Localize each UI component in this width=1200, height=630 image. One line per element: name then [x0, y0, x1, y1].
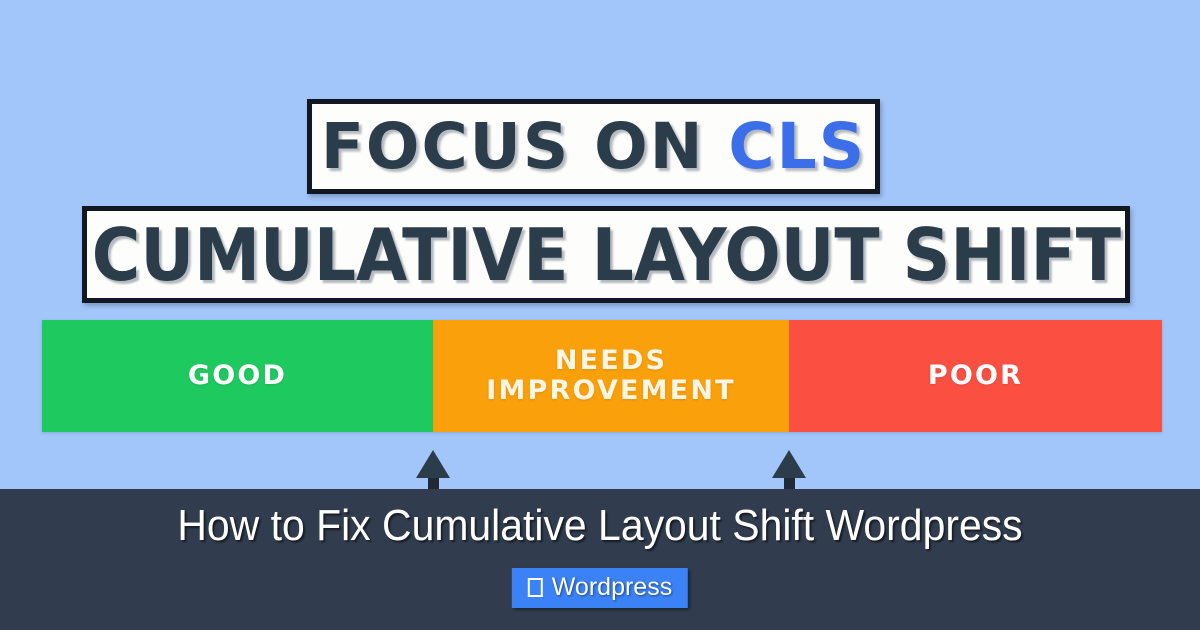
- bottom-overlay-bar: How to Fix Cumulative Layout Shift Wordp…: [0, 489, 1200, 630]
- page-title: How to Fix Cumulative Layout Shift Wordp…: [42, 501, 1158, 551]
- source-badge[interactable]: Wordpress: [512, 568, 688, 608]
- bar-segment-needs-line2: IMPROVEMENT: [486, 375, 736, 406]
- bar-segment-good-label: GOOD: [188, 361, 287, 391]
- headline-focus-prefix: FOCUS ON: [321, 110, 729, 183]
- arrow-up-icon: [416, 450, 450, 478]
- bar-segment-needs-line1: NEEDS: [555, 345, 667, 376]
- bar-segment-good: GOOD: [42, 320, 433, 432]
- headline-focus-text: FOCUS ON CLS: [321, 115, 866, 178]
- bar-segment-poor-label: POOR: [928, 361, 1023, 391]
- bar-segment-needs-improvement-label: NEEDSIMPROVEMENT: [486, 346, 736, 406]
- infographic-canvas: FOCUS ON CLS CUMULATIVE LAYOUT SHIFT GOO…: [0, 0, 1200, 630]
- bar-segment-needs-improvement: NEEDSIMPROVEMENT: [433, 320, 789, 432]
- headline-cumulative-text: CUMULATIVE LAYOUT SHIFT: [91, 219, 1120, 291]
- headline-box-focus: FOCUS ON CLS: [307, 99, 880, 194]
- headline-focus-accent: CLS: [728, 110, 866, 183]
- bar-segment-poor: POOR: [789, 320, 1162, 432]
- missing-glyph-box-icon: [528, 578, 543, 597]
- arrow-up-icon: [772, 450, 806, 478]
- source-badge-label: Wordpress: [552, 573, 672, 602]
- cls-threshold-bar: GOOD NEEDSIMPROVEMENT POOR: [42, 320, 1162, 432]
- headline-box-cumulative: CUMULATIVE LAYOUT SHIFT: [82, 206, 1130, 303]
